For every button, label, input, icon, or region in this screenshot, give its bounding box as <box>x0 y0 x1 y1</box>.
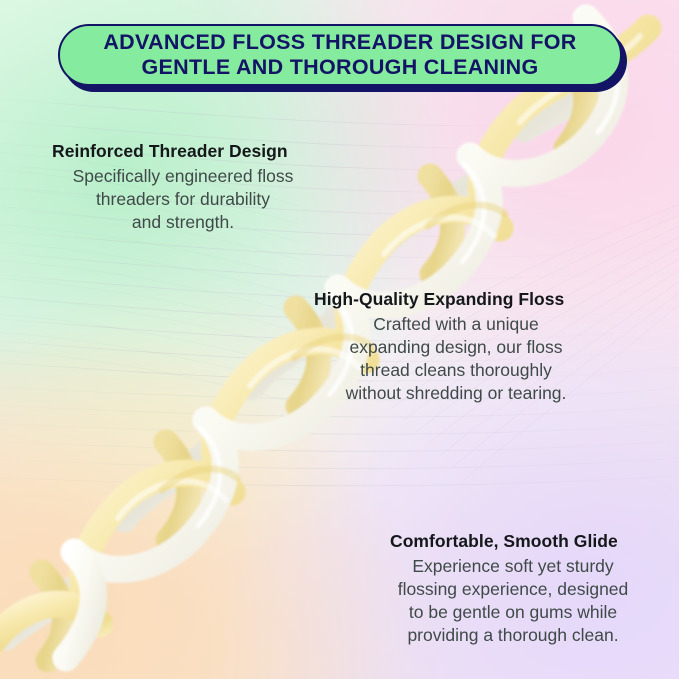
banner-pill: ADVANCED FLOSS THREADER DESIGN FOR GENTL… <box>58 24 622 86</box>
feature-block-high-quality-expanding-floss: High-Quality Expanding Floss Crafted wit… <box>314 289 598 405</box>
feature-heading: High-Quality Expanding Floss <box>314 289 598 310</box>
feature-heading: Reinforced Threader Design <box>52 141 314 162</box>
feature-body: Crafted with a unique expanding design, … <box>314 313 598 405</box>
feature-body: Specifically engineered floss threaders … <box>52 165 314 234</box>
feature-block-reinforced-threader-design: Reinforced Threader Design Specifically … <box>52 141 314 234</box>
header-banner: ADVANCED FLOSS THREADER DESIGN FOR GENTL… <box>58 24 622 86</box>
feature-heading: Comfortable, Smooth Glide <box>390 531 636 552</box>
feature-block-comfortable-smooth-glide: Comfortable, Smooth Glide Experience sof… <box>390 531 636 647</box>
banner-title: ADVANCED FLOSS THREADER DESIGN FOR GENTL… <box>87 30 592 80</box>
feature-body: Experience soft yet sturdy flossing expe… <box>390 555 636 647</box>
product-infographic: ADVANCED FLOSS THREADER DESIGN FOR GENTL… <box>0 0 679 679</box>
